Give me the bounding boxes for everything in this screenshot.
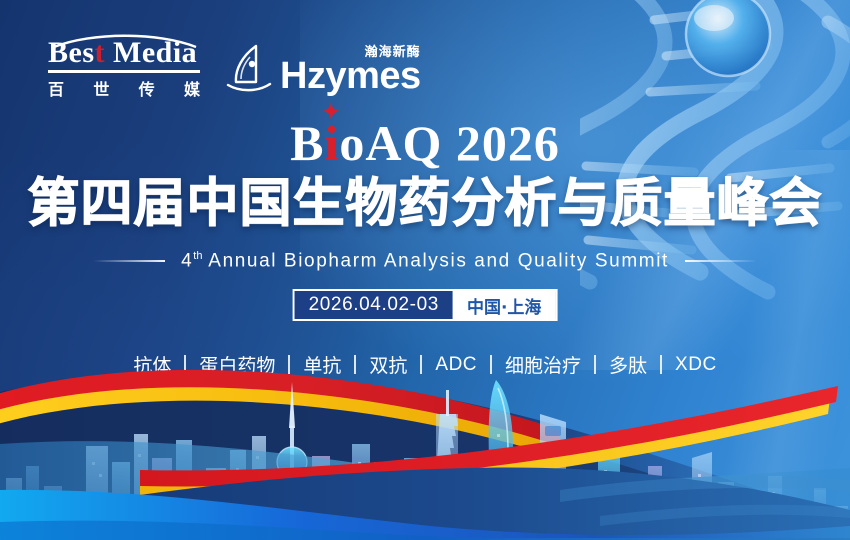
hzymes-logo[interactable]: 瀚海新酶 Hzymes: [226, 37, 421, 94]
event-title-cn: 第四届中国生物药分析与质量峰会: [0, 176, 850, 232]
title-en-part2: oAQ 2026: [339, 115, 560, 171]
subtitle-divider-right: [685, 260, 757, 262]
wave-layers: [0, 340, 850, 540]
bestmedia-cn-char: 世: [93, 76, 109, 100]
bestmedia-cn-char: 媒: [184, 76, 200, 100]
hzymes-wordmark: Hzymes: [280, 59, 421, 94]
date-location-badge: 2026.04.02-03 中国·上海: [293, 289, 558, 321]
event-date: 2026.04.02-03: [295, 291, 453, 319]
subtitle-ordinal: 4: [181, 250, 193, 271]
bestmedia-chinese-name: 百 世 传 媒: [48, 76, 200, 100]
subtitle-ordinal-suffix: th: [193, 250, 202, 262]
bestmedia-arc-icon: [52, 32, 198, 48]
event-location: 中国·上海: [453, 291, 555, 319]
event-subtitle-row: 4th Annual Biopharm Analysis and Quality…: [0, 250, 850, 272]
bestmedia-cn-char: 百: [48, 76, 64, 100]
bestmedia-logo[interactable]: Best Media 百 世 传 媒: [48, 32, 200, 100]
hzymes-sailboat-icon: [226, 43, 272, 93]
subtitle-divider-left: [93, 260, 165, 262]
sparkle-icon: [322, 102, 340, 120]
bottom-scene: [0, 340, 850, 540]
title-en-i-letter: i: [324, 115, 339, 171]
conference-banner: Best Media 百 世 传 媒 瀚海新酶 Hzymes BioAQ 202…: [0, 0, 850, 540]
bestmedia-cn-char: 传: [139, 76, 155, 100]
logo-row: Best Media 百 世 传 媒 瀚海新酶 Hzymes: [48, 32, 421, 100]
title-en-red-i: i: [324, 115, 339, 171]
subtitle-text: Annual Biopharm Analysis and Quality Sum…: [208, 250, 669, 271]
event-title-en: BioAQ 2026: [0, 118, 850, 168]
title-en-part1: B: [290, 115, 324, 171]
event-subtitle-en: 4th Annual Biopharm Analysis and Quality…: [181, 250, 669, 272]
bestmedia-underline: [48, 70, 200, 73]
